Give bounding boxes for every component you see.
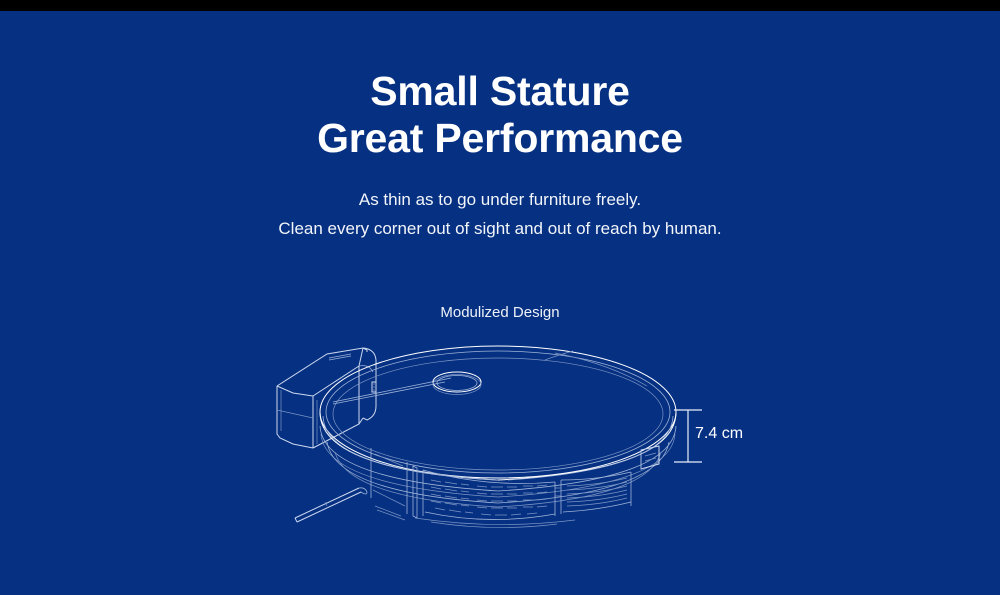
subtitle: As thin as to go under furniture freely.… <box>0 185 1000 243</box>
vacuum-top-disc <box>320 346 676 478</box>
headline-line-2: Great Performance <box>0 115 1000 162</box>
headline-line-1: Small Stature <box>0 68 1000 115</box>
left-panel-seam <box>371 448 417 518</box>
side-brush-arm <box>295 488 405 522</box>
subtitle-line-2: Clean every corner out of sight and out … <box>0 214 1000 243</box>
page-title: Small Stature Great Performance <box>0 68 1000 162</box>
subtitle-line-1: As thin as to go under furniture freely. <box>0 185 1000 214</box>
robot-vacuum-blueprint <box>255 330 715 530</box>
promo-banner: Small Stature Great Performance As thin … <box>0 0 1000 595</box>
diagram-caption: Modulized Design <box>0 304 1000 321</box>
dimension-label: 7.4 cm <box>695 425 743 443</box>
top-black-bar <box>0 0 1000 11</box>
side-vent-louvres <box>555 472 631 514</box>
